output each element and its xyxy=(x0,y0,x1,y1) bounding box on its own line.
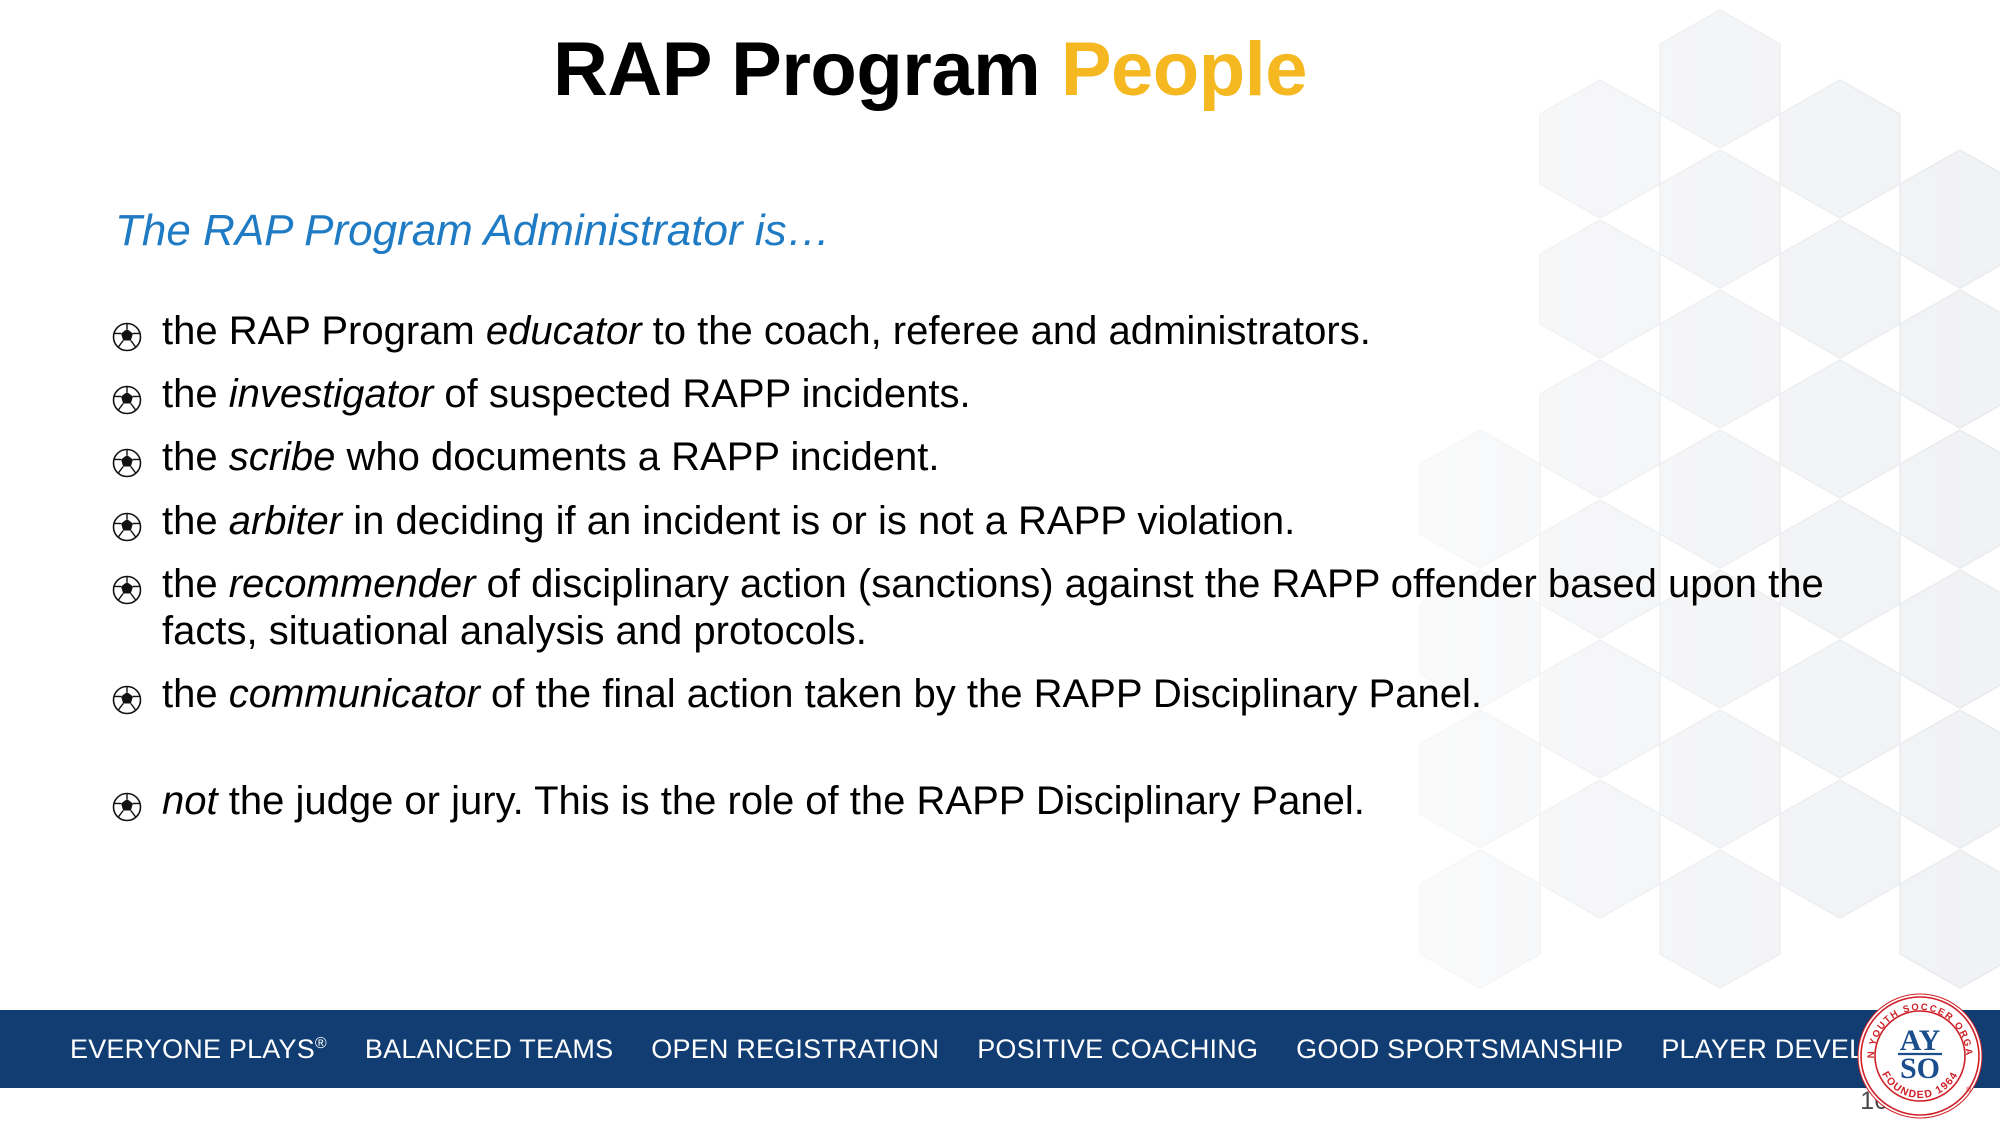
bullet-plain: the xyxy=(162,435,229,479)
bullet-emphasis: arbiter xyxy=(229,499,342,543)
bullet-text: not the judge or jury. This is the role … xyxy=(162,778,1882,825)
ayso-monogram-line2: SO xyxy=(1900,1052,1940,1085)
banner-tagline-label: EVERYONE PLAYS xyxy=(70,1034,315,1064)
soccer-ball-icon xyxy=(112,512,142,542)
bullet-plain: of suspected RAPP incidents. xyxy=(433,372,970,416)
bullet-text: the recommender of disciplinary action (… xyxy=(162,561,1882,655)
bullet-text: the arbiter in deciding if an incident i… xyxy=(162,498,1882,545)
slide-subtitle: The RAP Program Administrator is… xyxy=(115,206,831,256)
bullet-item: the scribe who documents a RAPP incident… xyxy=(112,434,1882,481)
bullet-plain: the xyxy=(162,562,229,606)
banner-tagline: EVERYONE PLAYS® xyxy=(70,1034,327,1065)
soccer-ball-icon xyxy=(112,685,142,715)
bullet-item: not the judge or jury. This is the role … xyxy=(112,778,1882,825)
bullet-emphasis: recommender xyxy=(229,562,476,606)
banner-tagline-label: GOOD SPORTSMANSHIP xyxy=(1296,1034,1623,1064)
bullet-list: the RAP Program educator to the coach, r… xyxy=(112,308,1882,842)
bullet-item: the RAP Program educator to the coach, r… xyxy=(112,308,1882,355)
bullet-emphasis: scribe xyxy=(229,435,336,479)
bullet-text: the investigator of suspected RAPP incid… xyxy=(162,371,1882,418)
ayso-tagline-banner: EVERYONE PLAYS®BALANCED TEAMSOPEN REGIST… xyxy=(0,1010,2000,1088)
bullet-plain: in deciding if an incident is or is not … xyxy=(342,499,1295,543)
slide-title: RAP Program People xyxy=(0,28,1860,112)
slide-title-main: RAP Program xyxy=(553,27,1040,112)
banner-tagline-label: POSITIVE COACHING xyxy=(977,1034,1258,1064)
bullet-plain: the xyxy=(162,499,229,543)
bullet-item: the investigator of suspected RAPP incid… xyxy=(112,371,1882,418)
banner-tagline-label: OPEN REGISTRATION xyxy=(651,1034,939,1064)
slide-title-accent: People xyxy=(1061,27,1307,112)
soccer-ball-icon xyxy=(112,385,142,415)
bullet-text: the RAP Program educator to the coach, r… xyxy=(162,308,1882,355)
bullet-emphasis: not xyxy=(162,779,218,823)
bullet-plain: the RAP Program xyxy=(162,309,486,353)
bullet-plain: the xyxy=(162,672,229,716)
banner-items: EVERYONE PLAYS®BALANCED TEAMSOPEN REGIST… xyxy=(70,1010,1981,1088)
bullet-plain: the xyxy=(162,372,229,416)
banner-tagline-label: BALANCED TEAMS xyxy=(365,1034,613,1064)
ayso-registered-mark: ® xyxy=(1966,1086,1972,1094)
registered-mark-icon: ® xyxy=(315,1035,327,1052)
bullet-item: the recommender of disciplinary action (… xyxy=(112,561,1882,655)
banner-tagline: POSITIVE COACHING xyxy=(977,1034,1258,1065)
bullet-emphasis: investigator xyxy=(229,372,434,416)
bullet-item: the communicator of the final action tak… xyxy=(112,671,1882,718)
bullet-emphasis: educator xyxy=(486,309,642,353)
bullet-emphasis: communicator xyxy=(229,672,480,716)
banner-tagline: GOOD SPORTSMANSHIP xyxy=(1296,1034,1623,1065)
bullet-text: the scribe who documents a RAPP incident… xyxy=(162,434,1882,481)
bullet-plain: of the final action taken by the RAPP Di… xyxy=(480,672,1482,716)
bullet-plain: who documents a RAPP incident. xyxy=(335,435,939,479)
soccer-ball-icon xyxy=(112,322,142,352)
slide-canvas: RAP Program People The RAP Program Admin… xyxy=(0,0,2000,1125)
bullet-plain: the judge or jury. This is the role of t… xyxy=(218,779,1365,823)
soccer-ball-icon xyxy=(112,448,142,478)
ayso-logo: AMERICAN YOUTH SOCCER ORGANIZATION FOUND… xyxy=(1856,992,1984,1120)
soccer-ball-icon xyxy=(112,575,142,605)
banner-tagline: BALANCED TEAMS xyxy=(365,1034,613,1065)
banner-tagline: OPEN REGISTRATION xyxy=(651,1034,939,1065)
bullet-text: the communicator of the final action tak… xyxy=(162,671,1882,718)
bullet-item: the arbiter in deciding if an incident i… xyxy=(112,498,1882,545)
bullet-plain: to the coach, referee and administrators… xyxy=(642,309,1371,353)
soccer-ball-icon xyxy=(112,792,142,822)
